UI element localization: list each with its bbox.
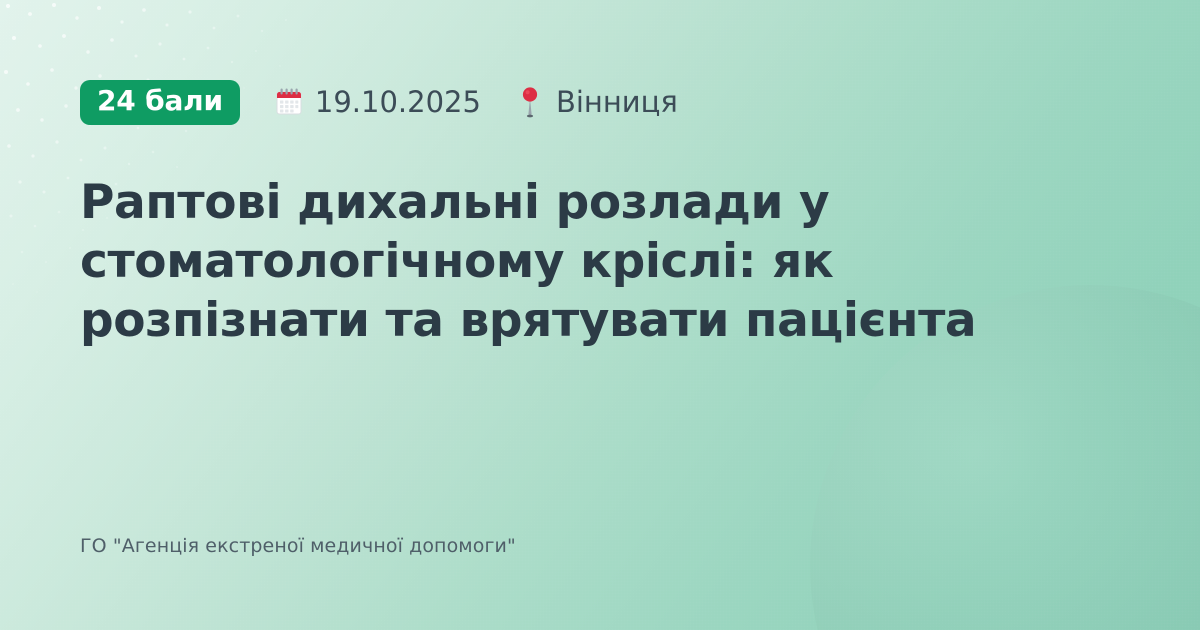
event-date: 19.10.2025 — [274, 85, 481, 119]
card-content: 24 бали — [0, 0, 1200, 630]
social-share-card: 24 бали — [0, 0, 1200, 630]
spiral-calendar-icon — [274, 85, 304, 119]
meta-row: 24 бали — [80, 78, 1120, 126]
score-badge: 24 бали — [80, 80, 240, 125]
organizer-name: ГО "Агенція екстреної медичної допомоги" — [80, 535, 1120, 558]
page-title: Раптові дихальні розлади у стоматологічн… — [80, 173, 1040, 351]
event-location: Вінниця — [515, 85, 678, 119]
event-location-text: Вінниця — [556, 88, 678, 117]
round-pushpin-icon — [515, 85, 545, 119]
event-date-text: 19.10.2025 — [315, 88, 481, 117]
